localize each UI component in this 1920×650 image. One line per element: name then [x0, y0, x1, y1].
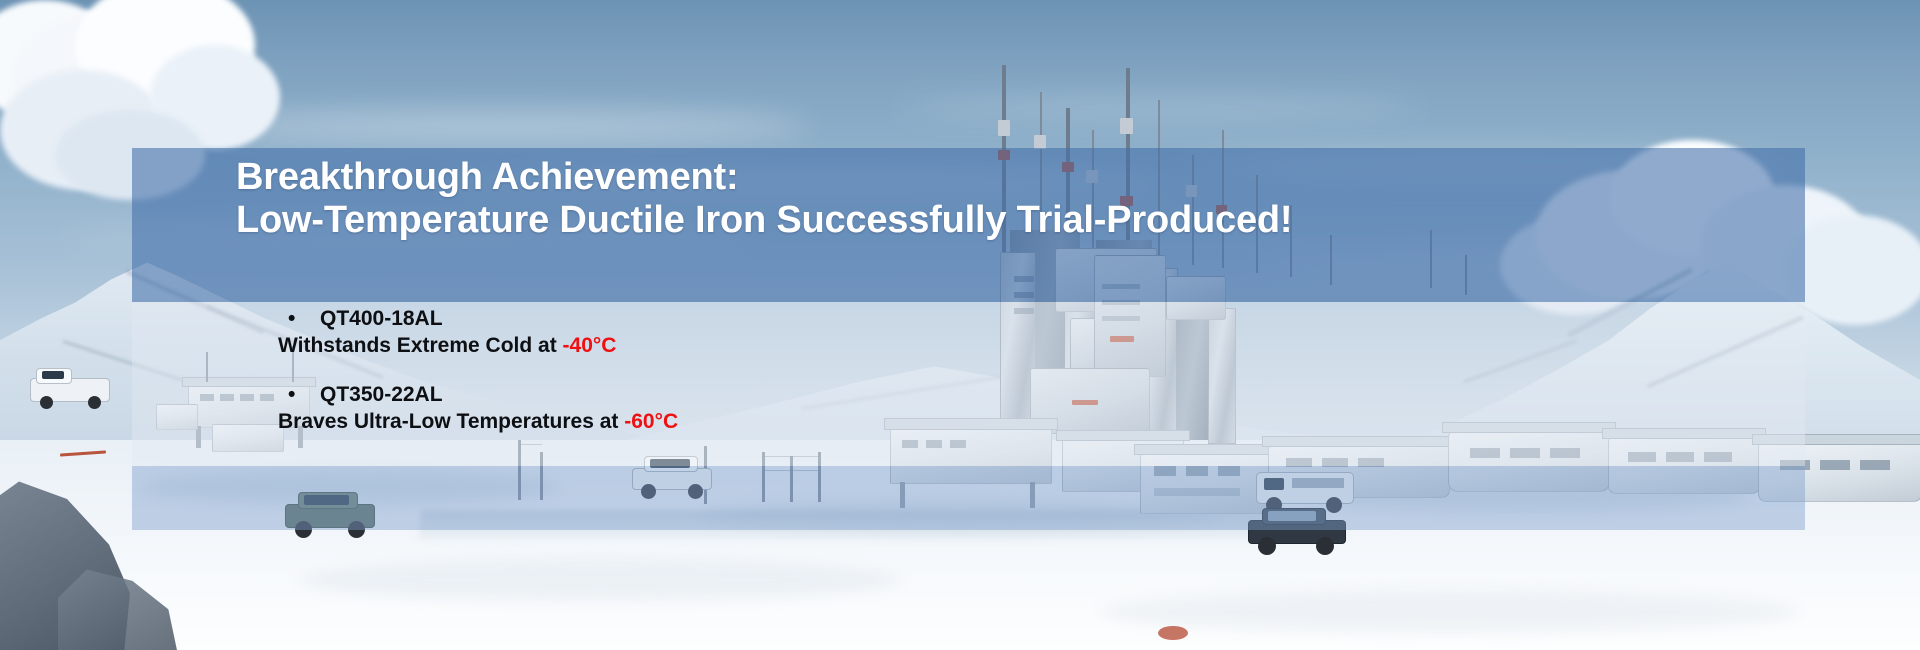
bullet-dot-icon: • [282, 382, 320, 407]
bullet-description-row: Withstands Extreme Cold at -40°C [278, 333, 1682, 358]
headline-line-1: Breakthrough Achievement: [236, 156, 1796, 199]
bullet-group-qt350: • QT350-22AL Braves Ultra-Low Temperatur… [282, 382, 1682, 434]
bullet-item-code-row: • QT400-18AL [282, 306, 1682, 331]
bullet-description-text: Braves Ultra-Low Temperatures at [278, 410, 624, 433]
bullet-group-qt400: • QT400-18AL Withstands Extreme Cold at … [282, 306, 1682, 358]
bullet-description-text: Withstands Extreme Cold at [278, 334, 563, 357]
headline: Breakthrough Achievement: Low-Temperatur… [236, 156, 1796, 242]
headline-line-2: Low-Temperature Ductile Iron Successfull… [236, 199, 1796, 242]
bullet-grade-code: QT400-18AL [320, 306, 443, 331]
text-overlay-panel: Breakthrough Achievement: Low-Temperatur… [132, 148, 1805, 530]
bullet-temperature-value: -60°C [624, 410, 678, 433]
bullet-description-row: Braves Ultra-Low Temperatures at -60°C [278, 409, 1682, 434]
cloud-streak [190, 110, 810, 142]
bullet-dot-icon: • [282, 306, 320, 331]
bullet-item-code-row: • QT350-22AL [282, 382, 1682, 407]
bullet-temperature-value: -40°C [563, 334, 617, 357]
cloud-streak [900, 96, 1420, 118]
banner-image: Breakthrough Achievement: Low-Temperatur… [0, 0, 1920, 650]
bullet-grade-code: QT350-22AL [320, 382, 443, 407]
footer-band [132, 466, 1805, 530]
bullet-list: • QT400-18AL Withstands Extreme Cold at … [282, 306, 1682, 434]
